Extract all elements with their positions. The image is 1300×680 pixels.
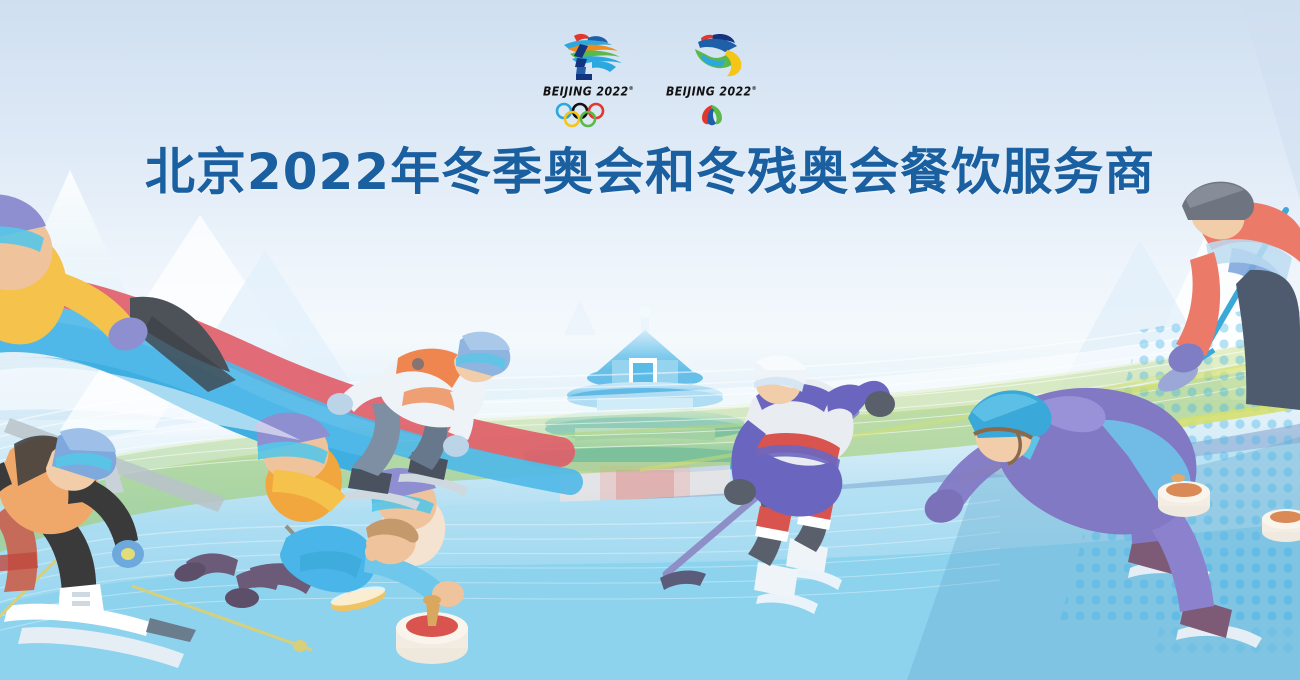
winter-dream-emblem (544, 30, 634, 82)
olympic-banner: BEIJING 2022® (0, 0, 1300, 680)
trademark-symbol: ® (752, 86, 757, 93)
logo-row: BEIJING 2022® (0, 30, 1300, 135)
olympic-wordmark: BEIJING 2022® (543, 84, 634, 99)
page-title: 北京2022年冬季奥会和冬残奥会餐饮服务商 (0, 144, 1300, 200)
paralympic-agitos (672, 102, 752, 128)
flying-emblem (667, 30, 757, 82)
beijing-2022-olympic-logo: BEIJING 2022® (536, 30, 641, 128)
trademark-symbol: ® (629, 86, 634, 93)
paralympic-wordmark: BEIJING 2022® (666, 84, 757, 99)
beijing-2022-paralympic-logo: BEIJING 2022® (659, 30, 764, 128)
olympic-rings (549, 102, 629, 128)
